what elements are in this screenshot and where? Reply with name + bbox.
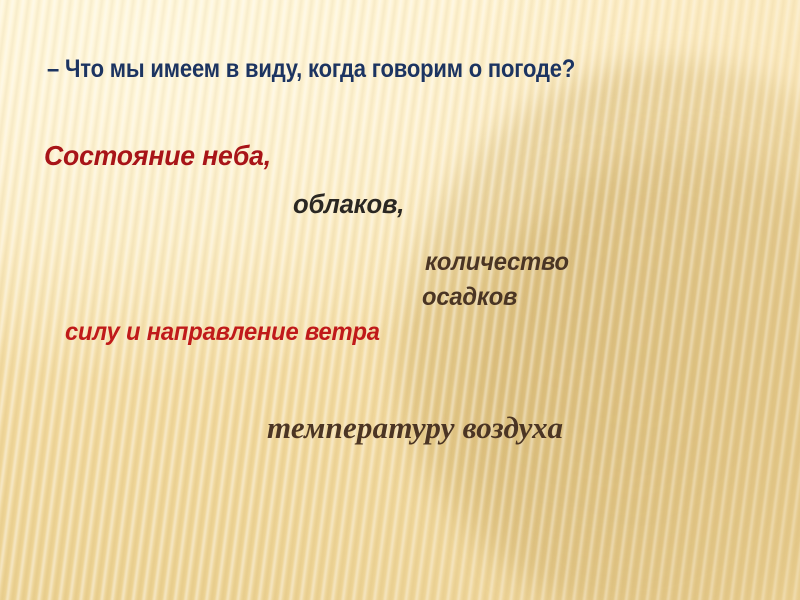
slide-title: – Что мы имеем в виду, когда говорим о п… — [47, 57, 575, 82]
bullet-sky-condition: Состояние неба, — [44, 142, 271, 170]
bullet-air-temperature: температуру воздуха — [267, 412, 563, 443]
bullet-wind: силу и направление ветра — [65, 320, 380, 345]
bullet-precipitation: осадков — [422, 285, 517, 310]
presentation-slide: – Что мы имеем в виду, когда говорим о п… — [0, 0, 800, 600]
bullet-clouds: облаков, — [293, 191, 404, 218]
bullet-precipitation-amount: количество — [425, 250, 569, 275]
slide-content: – Что мы имеем в виду, когда говорим о п… — [0, 0, 800, 600]
